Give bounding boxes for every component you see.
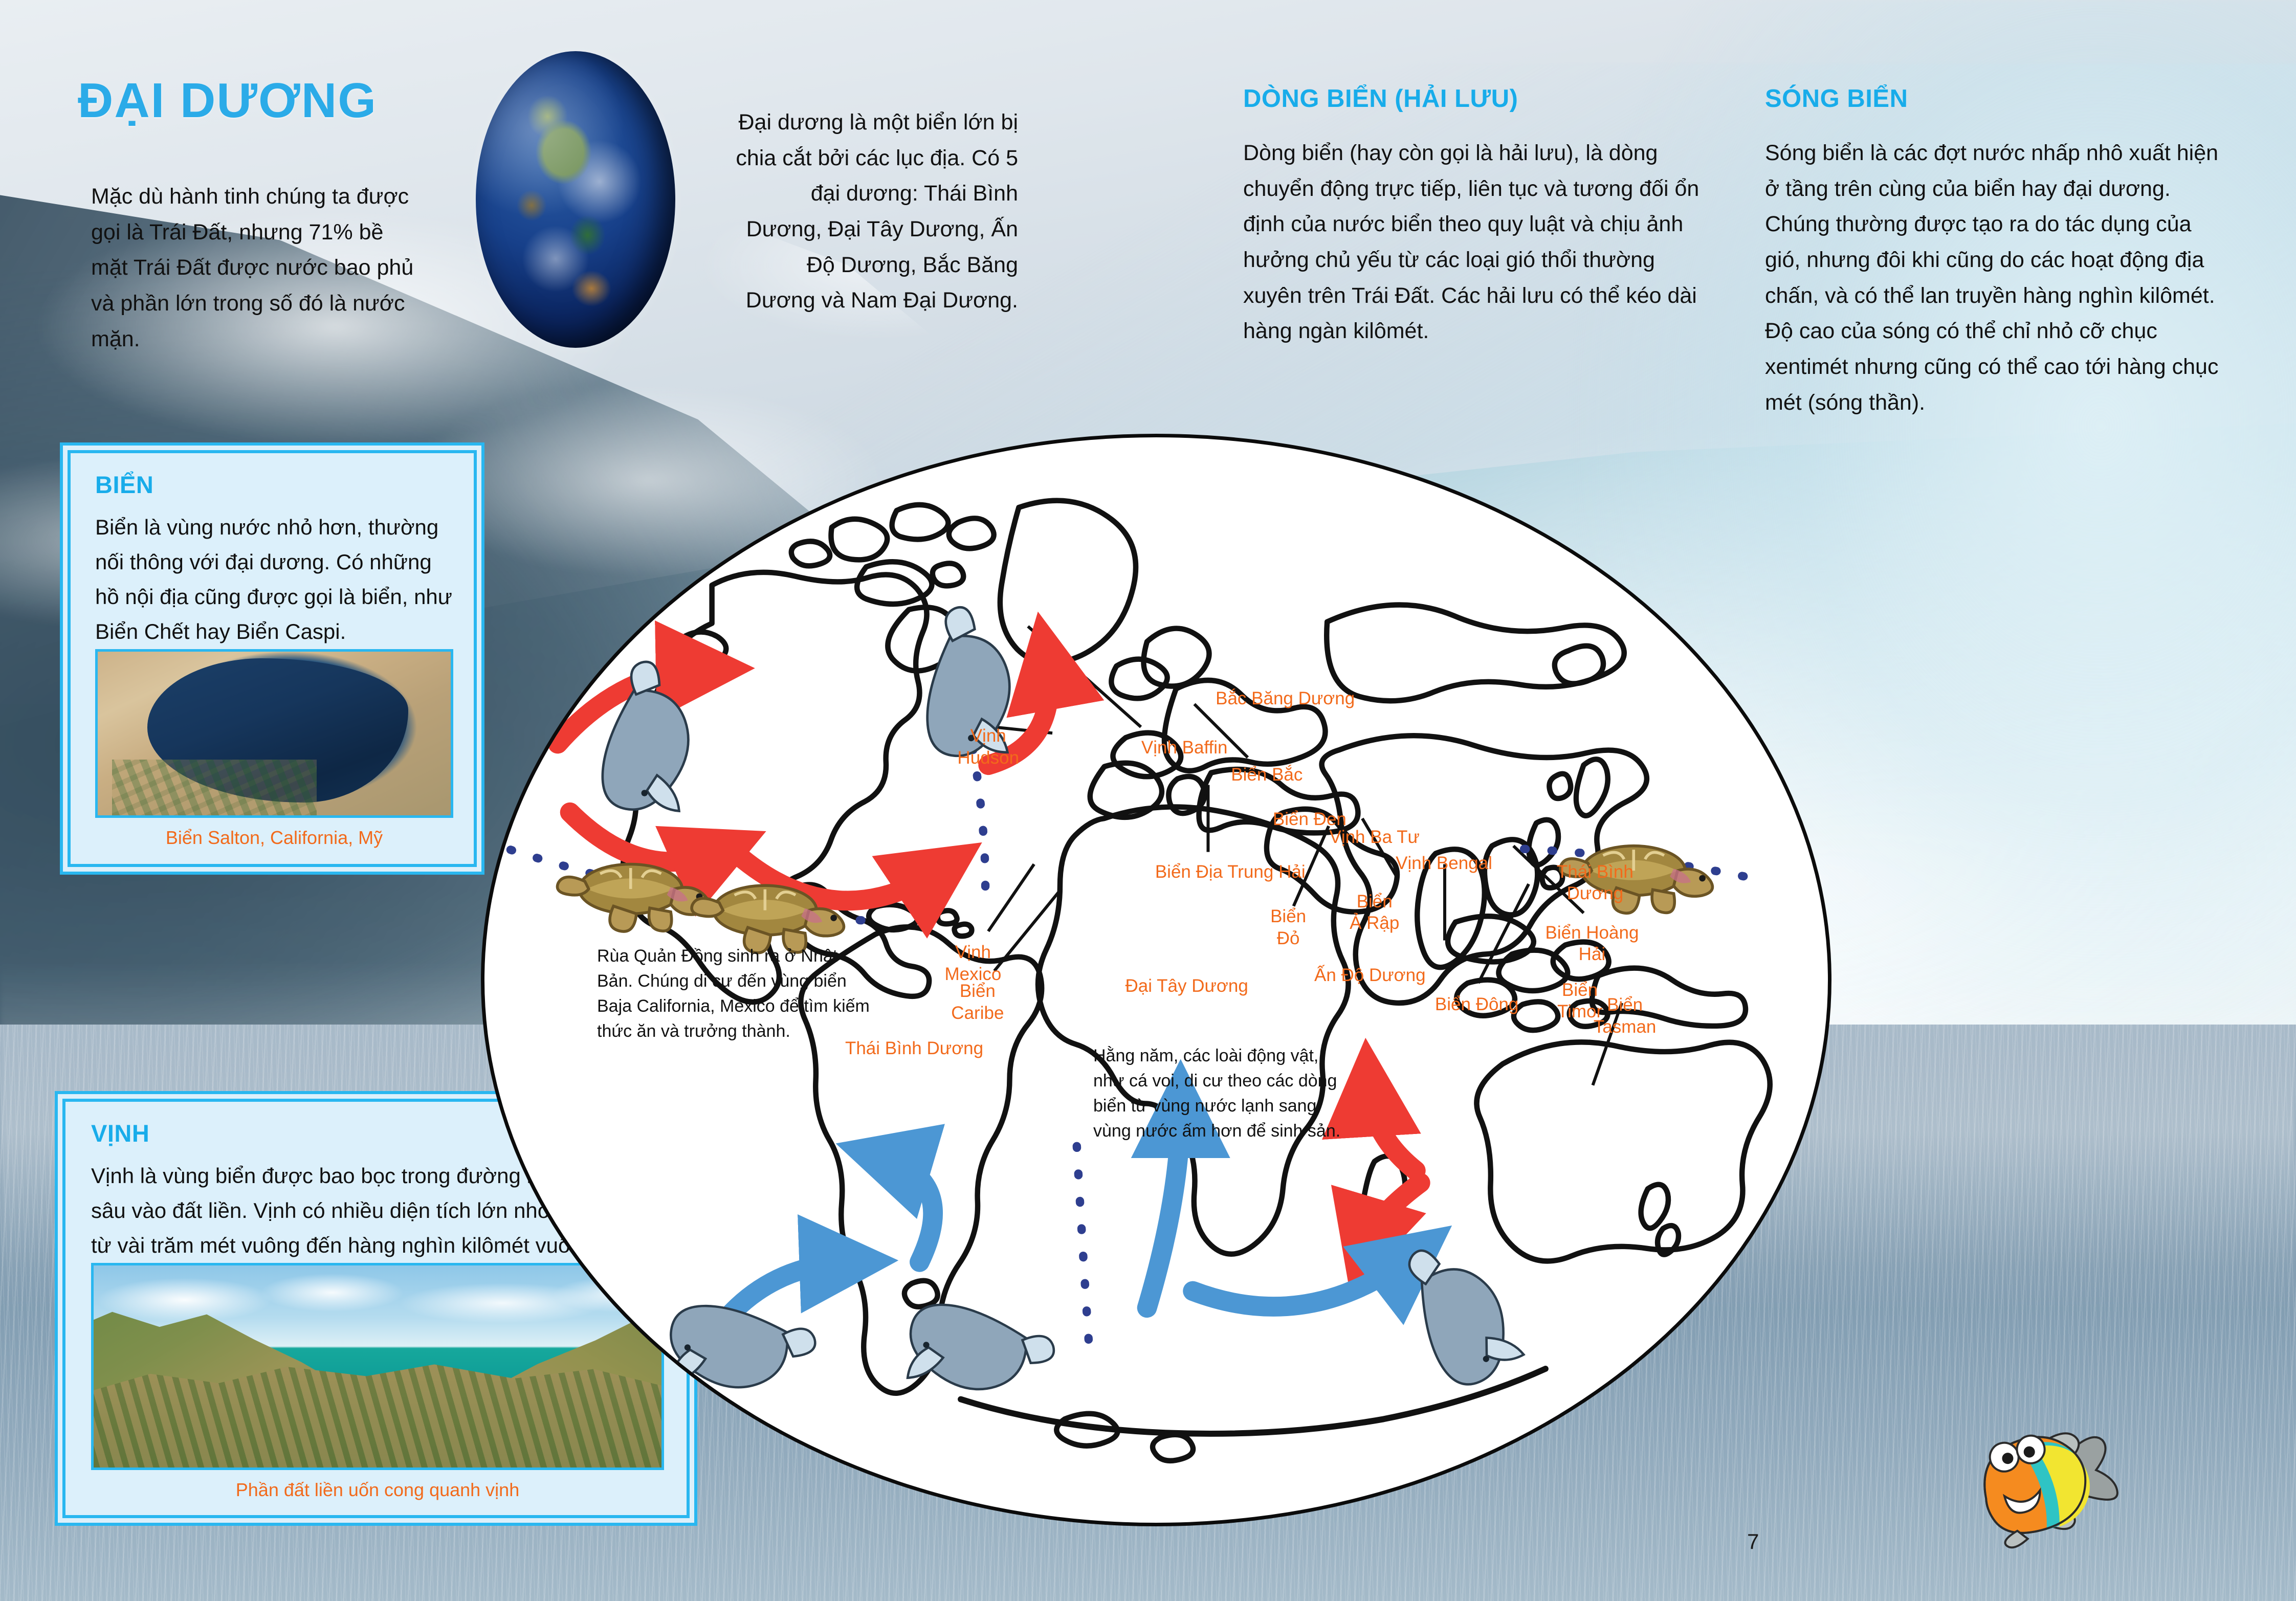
whale-icon: [1406, 1231, 1528, 1392]
map-label-bac-bang-duong: Bắc Băng Dương: [1216, 688, 1355, 710]
map-label-thai-binh-duong-r: Thái Bình Dương: [1557, 861, 1633, 905]
map-label-dai-tay-duong: Đại Tây Dương: [1125, 975, 1248, 997]
map-label-bien-tasman: Biển Tasman: [1594, 994, 1657, 1038]
page-title: ĐẠI DƯƠNG: [78, 73, 377, 129]
map-label-bien-caribe: Biển Caribe: [951, 981, 1004, 1024]
section-heading-waves: SÓNG BIỂN: [1765, 84, 1908, 113]
map-label-an-do-duong: Ấn Độ Dương: [1314, 965, 1426, 987]
map-label-vinh-ba-tu: Vịnh Ba Tư: [1329, 827, 1420, 849]
section-body-currents: Dòng biển (hay còn gọi là hải lưu), là d…: [1243, 136, 1719, 349]
sea-turtle-icon: [557, 864, 709, 931]
intro-paragraph-left: Mặc dù hành tinh chúng ta được gọi là Tr…: [91, 179, 418, 357]
infobox-sea: BIỂN Biển là vùng nước nhỏ hơn, thường n…: [68, 450, 477, 867]
earth-globe-image: [476, 51, 675, 348]
section-heading-currents: DÒNG BIỂN (HẢI LƯU): [1243, 84, 1518, 113]
map-label-vinh-baffin: Vịnh Baffin: [1141, 737, 1228, 759]
infobox-sea-caption: Biển Salton, California, Mỹ: [95, 827, 453, 849]
intro-paragraph-right: Đại dương là một biển lớn bị chia cắt bở…: [732, 105, 1018, 319]
section-body-waves: Sóng biển là các đợt nước nhấp nhô xuất …: [1765, 136, 2225, 420]
infobox-sea-heading: BIỂN: [95, 471, 453, 499]
map-label-bien-do: Biển Đỏ: [1270, 906, 1306, 949]
whale-icon: [591, 658, 720, 825]
map-annotation-turtle: Rùa Quản Đồng sinh ra ở Nhật Bản. Chúng …: [597, 944, 873, 1044]
map-label-vinh-mexico: Vịnh Mexico: [944, 942, 1001, 985]
salton-sea-photo: [95, 649, 453, 818]
map-label-bien-dia-trung-hai: Biển Địa Trung Hải: [1155, 861, 1306, 883]
world-map-oval: Vịnh HudsonVịnh BaffinBắc Băng DươngBiển…: [481, 434, 1831, 1526]
infobox-sea-body: Biển là vùng nước nhỏ hơn, thường nối th…: [95, 510, 453, 649]
map-label-bien-bac: Biển Bắc: [1231, 764, 1302, 786]
map-label-bien-dong: Biển Đông: [1435, 994, 1518, 1016]
map-annotation-whale: Hằng năm, các loài động vật, như cá voi,…: [1093, 1043, 1349, 1144]
cartoon-fish-mascot: [1959, 1412, 2128, 1570]
page-number: 7: [1747, 1529, 1759, 1554]
map-label-vinh-bengal: Vịnh Bengal: [1396, 853, 1492, 875]
map-label-vinh-hudson: Vịnh Hudson: [957, 725, 1019, 769]
whale-icon: [658, 1296, 818, 1415]
map-label-bien-a-rap: Biển Ả Rập: [1350, 891, 1399, 935]
map-label-bien-hoang-hai: Biển Hoàng Hải: [1545, 922, 1639, 966]
